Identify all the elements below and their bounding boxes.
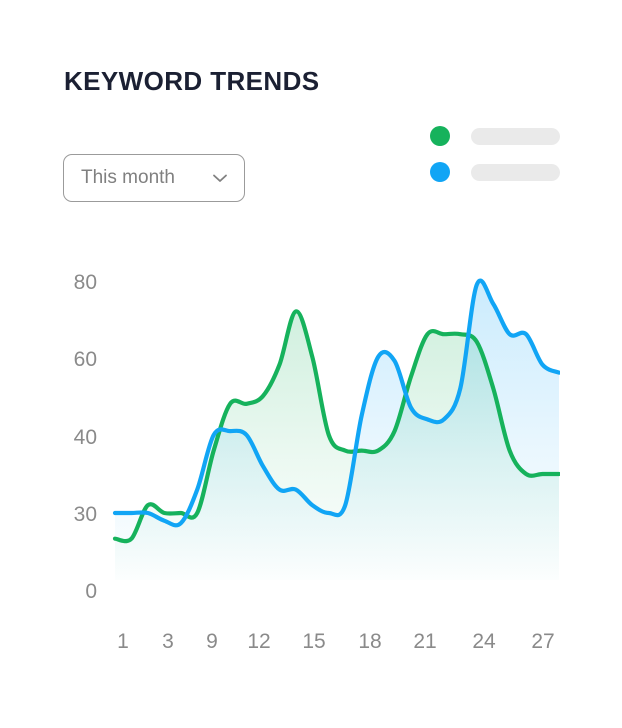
keyword-trends-chart: 80 60 40 30 0 1 3 9 12 15 18 21 24 27 xyxy=(0,0,622,728)
period-filter-dropdown[interactable]: This month xyxy=(63,154,245,202)
legend-item-series-2[interactable] xyxy=(430,162,560,182)
series-green-area xyxy=(115,311,559,590)
y-tick-60: 60 xyxy=(74,348,97,371)
x-tick-1: 1 xyxy=(117,630,129,653)
y-tick-40: 40 xyxy=(74,426,97,449)
x-tick-27: 27 xyxy=(531,630,554,653)
x-tick-24: 24 xyxy=(472,630,496,653)
x-tick-21: 21 xyxy=(413,630,436,653)
legend-label-placeholder xyxy=(471,164,560,181)
y-tick-0: 0 xyxy=(85,580,97,603)
y-tick-80: 80 xyxy=(74,271,97,294)
x-tick-9: 9 xyxy=(206,630,218,653)
period-filter-label: This month xyxy=(81,167,175,189)
chart-legend xyxy=(430,126,560,182)
series-blue-line xyxy=(115,281,559,526)
series-green-line xyxy=(115,311,559,541)
chevron-down-icon xyxy=(210,168,230,188)
legend-dot-blue xyxy=(430,162,450,182)
legend-dot-green xyxy=(430,126,450,146)
page-title: KEYWORD TRENDS xyxy=(64,66,320,97)
x-tick-15: 15 xyxy=(302,630,325,653)
legend-item-series-1[interactable] xyxy=(430,126,560,146)
x-axis-labels: 1 3 9 12 15 18 21 24 27 xyxy=(117,630,555,653)
y-axis-labels: 80 60 40 30 0 xyxy=(74,271,97,603)
series-blue-area xyxy=(115,281,559,590)
legend-label-placeholder xyxy=(471,128,560,145)
x-tick-18: 18 xyxy=(358,630,381,653)
keyword-trends-card: KEYWORD TRENDS This month xyxy=(0,0,622,728)
y-tick-30: 30 xyxy=(74,503,97,526)
x-tick-12: 12 xyxy=(247,630,270,653)
x-tick-3: 3 xyxy=(162,630,174,653)
